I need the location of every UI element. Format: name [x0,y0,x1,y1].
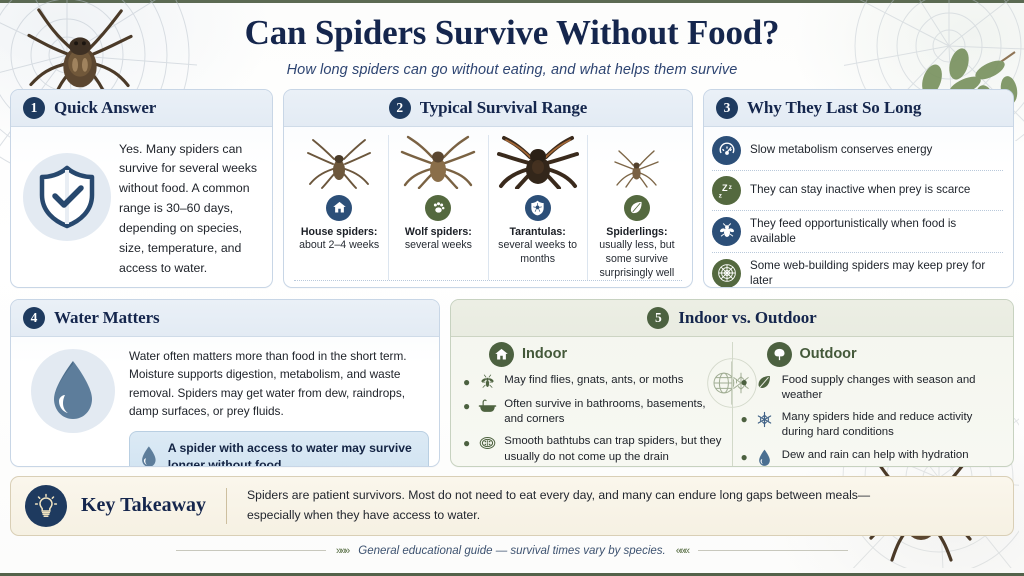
survival-column: Spiderlings: usually less, but some surv… [588,135,686,280]
footer-ornament-left: »»» [336,545,348,557]
reason-text: They feed opportunistically when food is… [750,216,1003,247]
bullet-dot: ● [741,448,748,465]
spider-web-icon [712,259,741,288]
bullet-dot: ● [741,410,748,427]
water-drop-icon [48,359,98,423]
shield-spider-icon [525,195,551,221]
tree-icon [767,342,792,367]
card-indoor-outdoor-header: 5 Indoor vs. Outdoor [451,300,1013,337]
water-drop-icon [140,440,158,466]
snowflake-icon [754,410,776,428]
footer-rule-right [698,550,848,551]
leaf-icon [624,195,650,221]
fly-icon [476,373,498,389]
house-icon [489,342,514,367]
card-why-header: 3 Why They Last So Long [704,90,1013,127]
gauge-icon [712,136,741,165]
outdoor-item-text: Many spiders hide and reduce activity du… [782,410,1001,441]
svg-text:z: z [728,184,732,191]
step-number-badge: 4 [23,307,45,329]
step-number-badge: 1 [23,97,45,119]
tarantula-photo [492,135,584,189]
house-spider-photo [293,135,385,189]
indoor-list-item: ● Often survive in bathrooms, basements,… [463,397,724,428]
reason-row: Slow metabolism conserves energy [712,131,1003,171]
footer-ornament-right: ««« [676,545,688,557]
survival-value: several weeks [392,239,484,253]
card-water-title: Water Matters [54,308,160,328]
water-drop-icon [754,448,776,467]
outdoor-list-item: ● Many spiders hide and reduce activity … [741,410,1002,441]
card-survival-range-title: Typical Survival Range [420,98,588,118]
step-number-badge: 2 [389,97,411,119]
key-takeaway-text: Spiders are patient survivors. Most do n… [247,486,907,525]
card-indoor-outdoor-title: Indoor vs. Outdoor [678,308,816,328]
outdoor-item-text: Dew and rain can help with hydration [782,448,969,463]
card-water-header: 4 Water Matters [11,300,439,337]
card-water-matters: 4 Water Matters Water often matters more… [10,299,440,467]
outdoor-heading: Outdoor [800,346,857,362]
infographic-page: Can Spiders Survive Without Food? How lo… [0,0,1024,576]
divider [226,488,227,524]
drain-icon [476,434,498,451]
reason-row: Z z z They can stay inactive when prey i… [712,171,1003,211]
survival-column: Tarantulas: several weeks to months [489,135,588,280]
lightbulb-icon [25,485,67,527]
card-quick-answer-title: Quick Answer [54,98,156,118]
svg-text:Z: Z [722,183,728,193]
cards-row-top: 1 Quick Answer Yes. Many spiders can sur… [0,89,1024,288]
survival-label: Spiderlings: [591,226,683,240]
reason-row: They feed opportunistically when food is… [712,211,1003,253]
reason-row: Some web-building spiders may keep prey … [712,253,1003,288]
indoor-item-text: May find flies, gnats, ants, or moths [504,373,683,388]
sleep-zz-icon: Z z z [712,176,741,205]
outdoor-section: Outdoor ● Food supply changes with seaso… [733,342,1010,467]
bullet-dot: ● [463,373,470,390]
survival-column: Wolf spiders: several weeks [389,135,488,280]
indoor-list-item: ● Smooth bathtubs can tr [463,434,724,465]
survival-value: several weeks to months [492,239,584,267]
card-why-last-so-long: 3 Why They Last So Long Slow metabolism … [703,89,1014,288]
shield-check-icon-wrap [19,137,115,279]
key-takeaway-title: Key Takeaway [81,494,206,517]
key-takeaway-banner: Key Takeaway Spiders are patient survivo… [10,476,1014,536]
step-number-badge: 5 [647,307,669,329]
svg-text:z: z [718,193,722,200]
reason-text: They can stay inactive when prey is scar… [750,182,970,198]
survival-label: House spiders: [293,226,385,240]
survival-label: Tarantulas: [492,226,584,240]
survival-label: Wolf spiders: [392,226,484,240]
bullet-dot: ● [463,434,470,451]
card-why-title: Why They Last So Long [747,98,921,118]
bullet-dot: ● [741,373,748,390]
card-survival-range: 2 Typical Survival Range [283,89,693,288]
card-quick-answer-body: Yes. Many spiders can survive for severa… [119,137,260,279]
indoor-section: Indoor ● May find flies, gnat [455,342,733,467]
key-takeaway-wrap: Key Takeaway Spiders are patient survivo… [0,476,1024,536]
hero-header: Can Spiders Survive Without Food? How lo… [0,0,1024,78]
indoor-list-item: ● May find flies, gnats, ants, or moths [463,373,724,390]
reason-text: Slow metabolism conserves energy [750,142,932,158]
page-title: Can Spiders Survive Without Food? [0,14,1024,53]
page-subtitle: How long spiders can go without eating, … [0,62,1024,78]
card-water-body: Water often matters more than food in th… [129,347,429,422]
house-icon [326,195,352,221]
card-quick-answer: 1 Quick Answer Yes. Many spiders can sur… [10,89,273,288]
bug-icon [712,217,741,246]
water-callout: A spider with access to water may surviv… [129,431,429,467]
leaf-icon [754,373,776,390]
bullet-dot: ● [463,397,470,414]
footer: »»» General educational guide — survival… [0,545,1024,557]
survival-value: usually less, but some survive surprisin… [591,239,683,281]
footer-rule-left [176,550,326,551]
outdoor-list-item: ● Food supply changes with season and we… [741,373,1002,404]
water-drop-icon-wrap [17,343,129,467]
card-survival-range-header: 2 Typical Survival Range [284,90,692,127]
water-callout-text: A spider with access to water may surviv… [168,440,416,467]
bathtub-icon [476,397,498,414]
spiderling-photo [591,135,683,189]
step-number-badge: 3 [716,97,738,119]
outdoor-item-text: Food supply changes with season and weat… [782,373,1001,404]
cards-row-bottom: 4 Water Matters Water often matters more… [0,299,1024,467]
survival-value: about 2–4 weeks [293,239,385,253]
indoor-heading-row: Indoor [463,342,724,367]
footer-text: General educational guide — survival tim… [358,545,665,557]
card-indoor-outdoor: 5 Indoor vs. Outdoor [450,299,1014,467]
outdoor-heading-row: Outdoor [741,342,1002,367]
reason-text: Some web-building spiders may keep prey … [750,258,1003,288]
wolf-spider-photo [392,135,484,189]
outdoor-list-item: ● Dew and rain can help with hydration [741,448,1002,467]
indoor-item-text: Often survive in bathrooms, basements, a… [504,397,723,428]
card-quick-answer-header: 1 Quick Answer [11,90,272,127]
shield-check-icon [37,165,97,229]
indoor-heading: Indoor [522,346,567,362]
survival-column: House spiders: about 2–4 weeks [290,135,389,280]
paw-icon [425,195,451,221]
indoor-item-text: Smooth bathtubs can trap spiders, but th… [504,434,723,465]
